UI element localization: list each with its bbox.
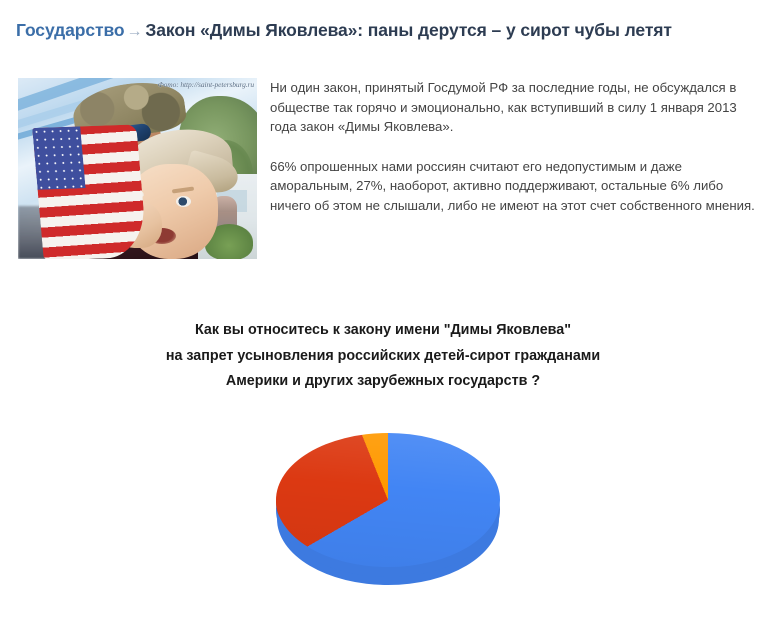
pie-top-face [276, 433, 500, 567]
us-flag-canton [32, 126, 85, 189]
breadcrumb-section-link[interactable]: Государство [16, 20, 125, 40]
poll-title-line: Как вы относитесь к закону имени "Димы Я… [0, 318, 766, 344]
poll-question-title: Как вы относитесь к закону имени "Димы Я… [0, 318, 766, 395]
article-paragraph: Ни один закон, принятый Госдумой РФ за п… [270, 78, 756, 137]
article-paragraph: 66% опрошенных нами россиян считают его … [270, 157, 756, 216]
poll-chart-block: Как вы относитесь к закону имени "Димы Я… [0, 300, 766, 630]
article-body: Фото: http://saint-petersburg.ru Ни один… [0, 78, 766, 268]
poll-pie-chart [264, 425, 512, 605]
poll-title-line: Америки и других зарубежных государств ? [0, 369, 766, 395]
poll-title-line: на запрет усыновления российских детей-с… [0, 344, 766, 370]
headline-text: Закон «Димы Яковлева»: паны дерутся – у … [145, 20, 671, 40]
photo-us-flag [32, 124, 148, 259]
photo-watermark: Фото: http://saint-petersburg.ru [158, 80, 254, 89]
article-photo: Фото: http://saint-petersburg.ru [18, 78, 257, 259]
photo-child-eye [176, 196, 191, 207]
article-text-column: Ни один закон, принятый Госдумой РФ за п… [270, 78, 756, 215]
arrow-right-icon: → [125, 23, 146, 40]
page-title: Государство→Закон «Димы Яковлева»: паны … [16, 18, 752, 44]
